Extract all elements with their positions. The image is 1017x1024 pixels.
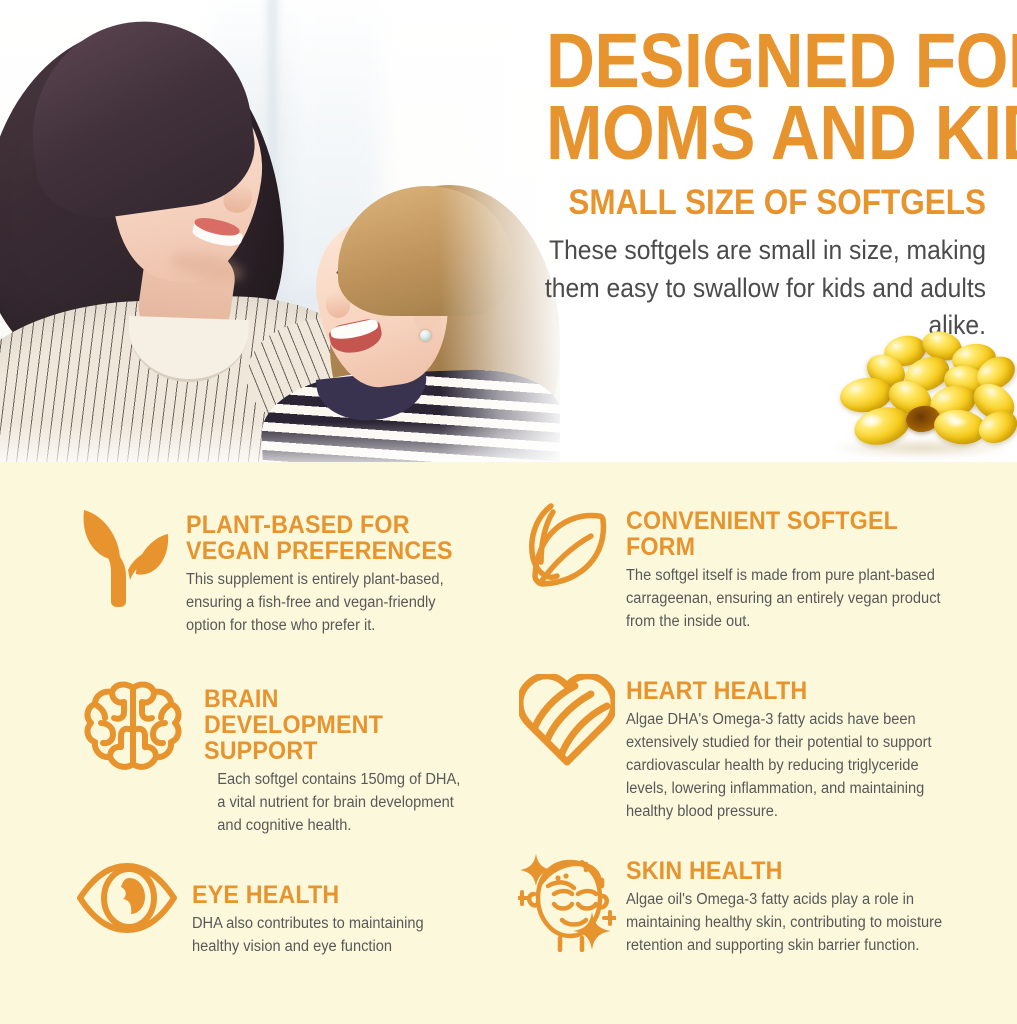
girl-earring [420,330,431,341]
feature-text: HEART HEALTH Algae DHA's Omega-3 fatty a… [626,674,978,824]
feature-plant-based: PLANT-BASED FOR VEGAN PREFERENCES This s… [62,500,482,637]
feature-description: Each softgel contains 150mg of DHA, a vi… [204,768,468,837]
feature-title: PLANT-BASED FOR VEGAN PREFERENCES [186,512,461,564]
feature-description: Algae DHA's Omega-3 fatty acids have bee… [626,708,960,824]
photo-fade-bottom [0,422,560,462]
feature-text: SKIN HEALTH Algae oil's Omega-3 fatty ac… [626,852,978,957]
feature-eye-health: EYE HEALTH DHA also contributes to maint… [62,862,482,958]
headline-line-1: DESIGNED FOR [546,26,986,98]
feature-skin-health: SKIN HEALTH Algae oil's Omega-3 fatty ac… [508,852,978,957]
feature-convenient-softgel-form: CONVENIENT SOFTGEL FORM The softgel itse… [508,500,978,633]
brain-icon [62,678,204,778]
feature-title: EYE HEALTH [192,882,462,908]
headline-line-2: MOMS AND KIDS [546,98,986,170]
feature-description: Algae oil's Omega-3 fatty acids play a r… [626,888,960,957]
feature-title: BRAIN DEVELOPMENT SUPPORT [204,686,463,764]
hero-body-text: These softgels are small in size, making… [521,232,986,345]
feature-title: SKIN HEALTH [626,858,953,884]
capsule-highlight [860,414,884,428]
feature-text: BRAIN DEVELOPMENT SUPPORT Each softgel c… [204,678,482,837]
leaves-icon [508,500,626,594]
sprout-icon [62,500,186,608]
feature-title: CONVENIENT SOFTGEL FORM [626,508,953,560]
hero-subheading: SMALL SIZE OF SOFTGELS [536,185,986,222]
feature-text: CONVENIENT SOFTGEL FORM The softgel itse… [626,500,978,633]
mother-and-child-photo [0,0,560,462]
softgel-capsules-image [826,330,1017,462]
feature-text: EYE HEALTH DHA also contributes to maint… [192,862,482,958]
feature-text: PLANT-BASED FOR VEGAN PREFERENCES This s… [186,500,482,637]
eye-icon [62,862,192,934]
capsule-highlight [946,416,968,428]
feature-heart-health: HEART HEALTH Algae DHA's Omega-3 fatty a… [508,674,978,824]
feature-description: DHA also contributes to maintaining heal… [192,912,468,958]
feature-description: The softgel itself is made from pure pla… [626,564,960,633]
hero-text-block: DESIGNED FOR MOMS AND KIDS SMALL SIZE OF… [486,26,986,345]
feature-brain-development: BRAIN DEVELOPMENT SUPPORT Each softgel c… [62,678,482,837]
feature-description: This supplement is entirely plant-based,… [186,568,467,637]
face-sparkle-icon [508,852,626,952]
infographic-page: DESIGNED FOR MOMS AND KIDS SMALL SIZE OF… [0,0,1017,1024]
heart-icon [508,674,626,766]
features-section: PLANT-BASED FOR VEGAN PREFERENCES This s… [0,462,1017,1024]
hero-section: DESIGNED FOR MOMS AND KIDS SMALL SIZE OF… [0,0,1017,462]
feature-title: HEART HEALTH [626,678,953,704]
